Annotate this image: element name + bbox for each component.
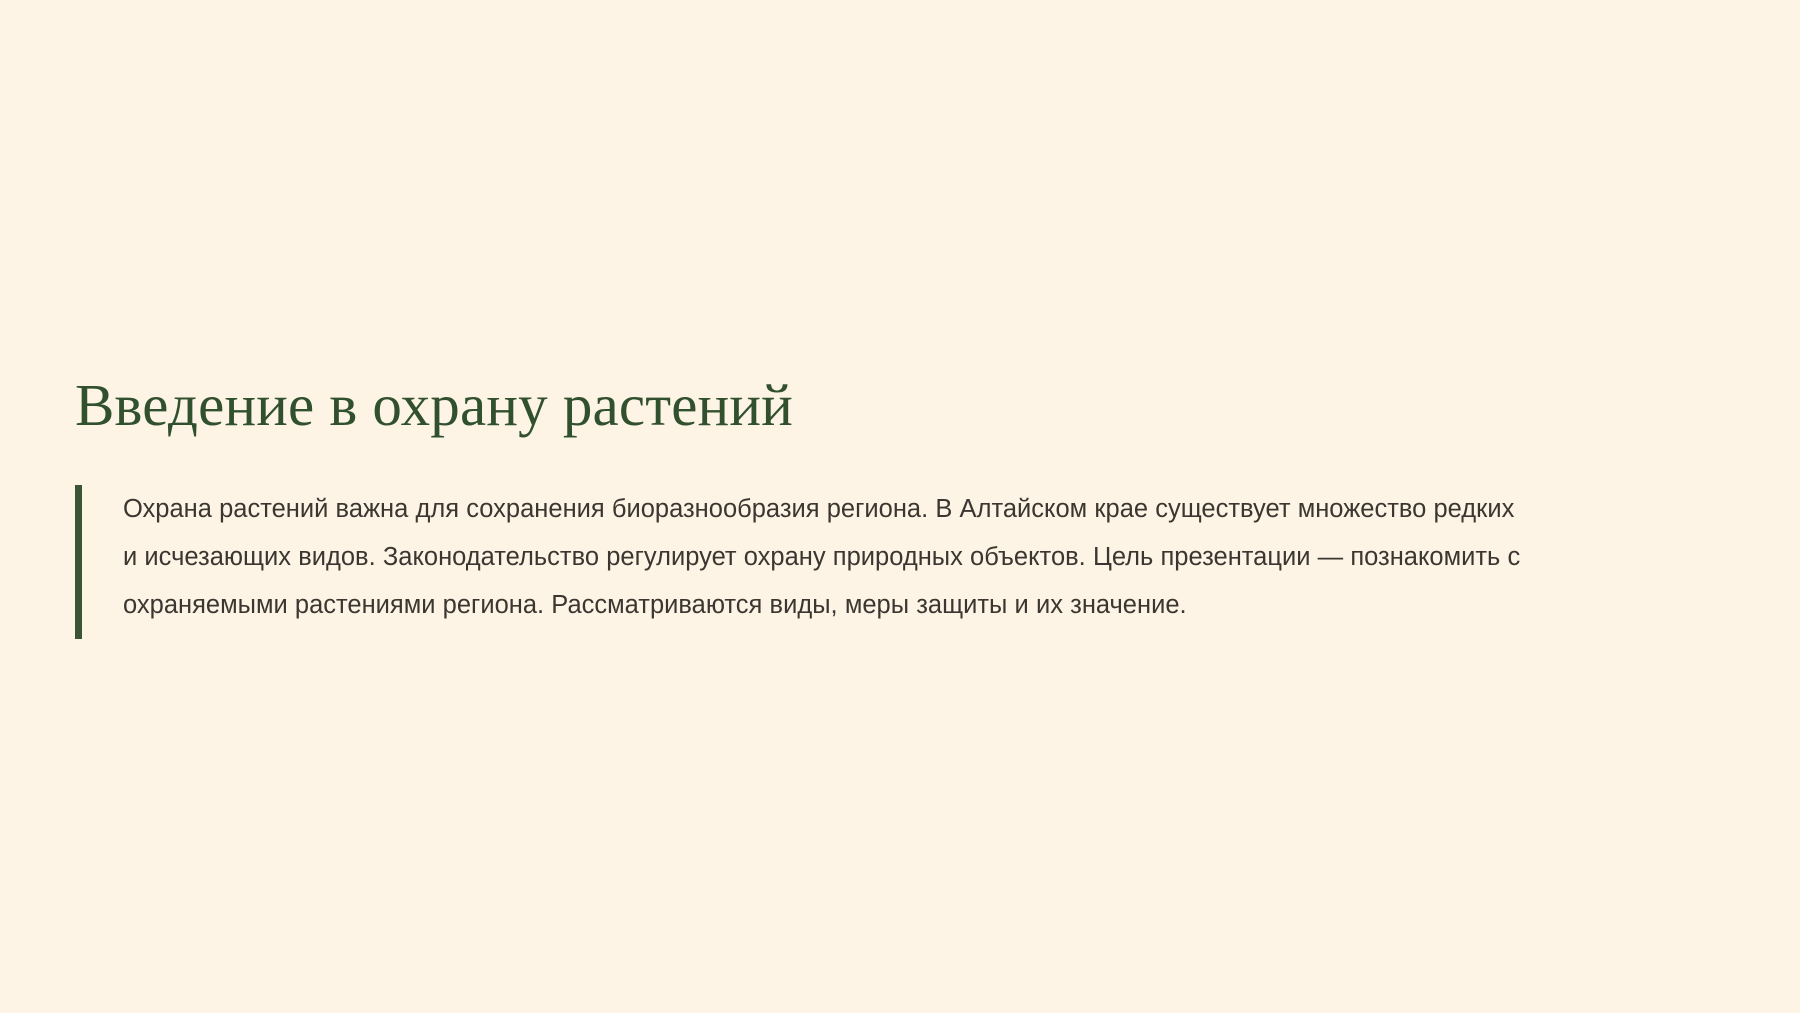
slide-content: Введение в охрану растений Охрана растен… xyxy=(75,372,1735,639)
slide-title: Введение в охрану растений xyxy=(75,372,1735,438)
presentation-slide: Введение в охрану растений Охрана растен… xyxy=(0,0,1800,1013)
slide-body-paragraph: Охрана растений важна для сохранения био… xyxy=(123,485,1535,629)
left-accent-bar xyxy=(75,485,82,639)
body-block: Охрана растений важна для сохранения био… xyxy=(75,485,1735,639)
